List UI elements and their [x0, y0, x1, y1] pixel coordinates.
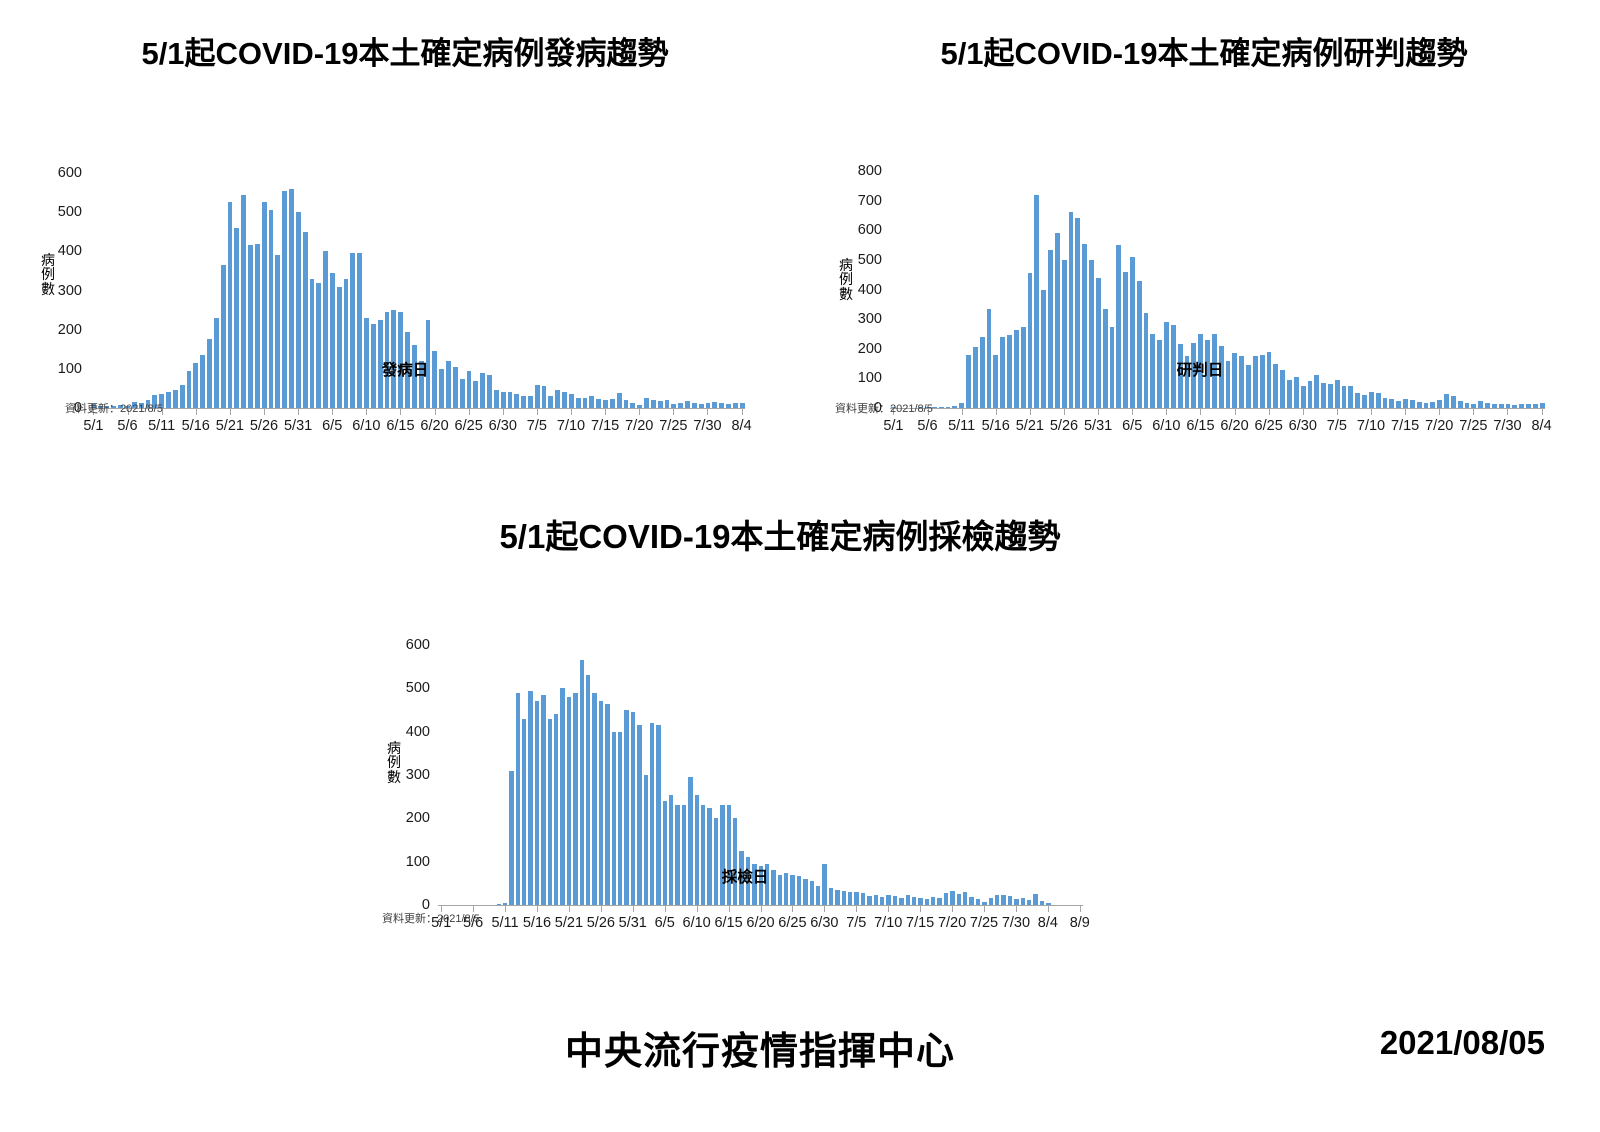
xtick-label: 5/16 [982, 418, 1010, 434]
bar[interactable] [1143, 313, 1150, 408]
bar[interactable] [268, 210, 275, 408]
xtick-label: 5/21 [555, 915, 583, 931]
xtick-label: 7/5 [846, 915, 866, 931]
xtick-label: 7/20 [1425, 418, 1453, 434]
xtick-label: 5/11 [148, 418, 175, 434]
bar[interactable] [479, 373, 486, 408]
bar[interactable] [1450, 396, 1457, 408]
xtick-label: 7/5 [1327, 418, 1347, 434]
bar[interactable] [1279, 370, 1286, 409]
xtick-label: 5/11 [491, 915, 518, 931]
xtick-label: 6/20 [746, 915, 774, 931]
bar[interactable] [534, 385, 541, 409]
bar[interactable] [431, 351, 438, 408]
bar[interactable] [1129, 257, 1136, 408]
ytick-label: 600 [830, 222, 882, 238]
ytick-label: 500 [40, 204, 82, 220]
plot-sample: 病例數01002003004005006005/15/65/115/165/21… [380, 623, 1093, 945]
update-note-sample: 資料更新：2021/8/5 [382, 910, 480, 926]
bar[interactable] [1293, 377, 1300, 408]
ytick-label: 600 [380, 637, 430, 653]
xtick-label: 5/11 [948, 418, 975, 434]
bar[interactable] [500, 392, 507, 408]
xtick-label: 5/16 [182, 418, 210, 434]
bar[interactable] [459, 379, 466, 408]
xtick-label: 5/31 [619, 915, 647, 931]
bar[interactable] [547, 396, 554, 408]
bar[interactable] [507, 392, 514, 408]
ytick-label: 100 [40, 361, 82, 377]
xtick-label: 6/30 [1289, 418, 1317, 434]
bar[interactable] [445, 361, 452, 408]
bar[interactable] [1307, 381, 1314, 408]
bar[interactable] [1006, 335, 1013, 408]
bar[interactable] [513, 394, 520, 408]
xtick-label: 6/15 [386, 418, 414, 434]
bar[interactable] [322, 251, 329, 408]
bar[interactable] [356, 253, 363, 408]
bar[interactable] [1354, 393, 1361, 408]
ytick-label: 200 [40, 322, 82, 338]
bar[interactable] [1402, 399, 1409, 408]
xtick-label: 5/16 [523, 915, 551, 931]
ytick-label: 700 [830, 193, 882, 209]
bar[interactable] [213, 318, 220, 408]
xtick-label: 7/20 [938, 915, 966, 931]
xtick-label: 6/20 [420, 418, 448, 434]
bar[interactable] [1020, 327, 1027, 408]
ytick-label: 300 [40, 283, 82, 299]
bar[interactable] [986, 309, 993, 408]
xtick-label: 6/15 [714, 915, 742, 931]
bar[interactable] [315, 283, 322, 408]
bar[interactable] [1382, 398, 1389, 408]
bar[interactable] [247, 245, 254, 408]
bar[interactable] [486, 375, 493, 408]
bar[interactable] [220, 265, 227, 408]
ytick-label: 500 [830, 252, 882, 268]
bar[interactable] [650, 400, 657, 408]
xtick-label: 5/21 [216, 418, 244, 434]
bar[interactable] [582, 398, 589, 408]
xtick-label: 6/20 [1220, 418, 1248, 434]
bar[interactable] [1361, 395, 1368, 408]
bar[interactable] [288, 189, 295, 408]
xtick-label: 5/21 [1016, 418, 1044, 434]
chart-title-sample: 5/1起COVID-19本土確定病例採檢趨勢 [340, 510, 1220, 558]
bar[interactable] [568, 394, 575, 408]
xtick-label: 7/15 [906, 915, 934, 931]
xtick-label: 7/15 [1391, 418, 1419, 434]
footer-date: 2021/08/05 [1380, 1024, 1545, 1062]
bar[interactable] [1013, 330, 1020, 409]
ytick-label: 500 [380, 680, 430, 696]
xtick-label: 8/9 [1070, 915, 1090, 931]
bar[interactable] [575, 398, 582, 408]
bar[interactable] [1095, 278, 1102, 408]
xtick-label: 8/4 [731, 418, 751, 434]
xtick-label: 6/25 [455, 418, 483, 434]
bar[interactable] [349, 253, 356, 408]
bar[interactable] [1272, 364, 1279, 408]
xtick-label: 6/10 [683, 915, 711, 931]
bar[interactable] [438, 369, 445, 408]
xtick-label: 7/5 [527, 418, 547, 434]
xtick-label: 5/6 [917, 418, 937, 434]
bar[interactable] [343, 279, 350, 408]
bar[interactable] [684, 401, 691, 408]
bar[interactable] [979, 337, 986, 408]
bar[interactable] [370, 324, 377, 408]
chart-title-onset: 5/1起COVID-19本土確定病例發病趨勢 [10, 28, 800, 73]
update-note-confirm: 資料更新：2021/8/5 [835, 400, 933, 416]
bar[interactable] [452, 367, 459, 408]
xtick-label: 6/5 [655, 915, 675, 931]
bar[interactable] [1327, 384, 1334, 408]
bar[interactable] [1136, 281, 1143, 408]
xtick-label: 5/1 [883, 418, 903, 434]
bar[interactable] [1027, 273, 1034, 408]
bar[interactable] [172, 390, 179, 408]
xaxis-title-confirm: 研判日 [1177, 358, 1224, 380]
bar[interactable] [561, 392, 568, 408]
xtick-label: 6/30 [489, 418, 517, 434]
bar[interactable] [186, 371, 193, 408]
xtick-label: 5/1 [83, 418, 103, 434]
bar[interactable] [1231, 353, 1238, 408]
xtick-label: 6/15 [1186, 418, 1214, 434]
ytick-label: 100 [380, 854, 430, 870]
bar[interactable] [1088, 260, 1095, 408]
bar[interactable] [616, 393, 623, 408]
bar[interactable] [261, 202, 268, 408]
ytick-label: 200 [830, 341, 882, 357]
bar[interactable] [999, 337, 1006, 408]
xtick-label: 7/10 [874, 915, 902, 931]
xaxis-title-onset: 發病日 [382, 358, 429, 380]
ytick-label: 400 [830, 282, 882, 298]
chart-title-confirm: 5/1起COVID-19本土確定病例研判趨勢 [808, 28, 1600, 73]
bar[interactable] [1388, 399, 1395, 408]
bar[interactable] [541, 386, 548, 408]
update-note-onset: 資料更新：2021/8/5 [65, 400, 163, 416]
bar[interactable] [1156, 340, 1163, 408]
ytick-label: 800 [830, 163, 882, 179]
xtick-label: 6/5 [322, 418, 342, 434]
bar[interactable] [254, 244, 261, 409]
bar[interactable] [206, 339, 213, 408]
bar[interactable] [1395, 401, 1402, 408]
xtick-label: 6/25 [778, 915, 806, 931]
bar[interactable] [527, 396, 534, 408]
ytick-label: 600 [40, 165, 82, 181]
xtick-label: 6/5 [1122, 418, 1142, 434]
bar[interactable] [1245, 365, 1252, 408]
xtick-label: 7/10 [1357, 418, 1385, 434]
xtick-label: 5/26 [250, 418, 278, 434]
ytick-label: 100 [830, 370, 882, 386]
bar[interactable] [1163, 322, 1170, 408]
bar[interactable] [1300, 386, 1307, 408]
bar[interactable] [1115, 245, 1122, 408]
x-tick-row [890, 409, 1545, 415]
bar[interactable] [1033, 195, 1040, 408]
bar[interactable] [1149, 334, 1156, 408]
bar[interactable] [1238, 356, 1245, 408]
xtick-label: 7/30 [693, 418, 721, 434]
bar[interactable] [1074, 218, 1081, 408]
xtick-label: 6/25 [1255, 418, 1283, 434]
bar[interactable] [302, 232, 309, 408]
chart-panel-confirm: 5/1起COVID-19本土確定病例研判趨勢 病例數01002003004005… [800, 28, 1600, 498]
bar[interactable] [1375, 393, 1382, 408]
ytick-label: 300 [830, 311, 882, 327]
xtick-label: 6/10 [1152, 418, 1180, 434]
bar[interactable] [1266, 352, 1273, 408]
xtick-label: 7/25 [970, 915, 998, 931]
bar[interactable] [1252, 356, 1259, 408]
bar[interactable] [1334, 380, 1341, 408]
bar[interactable] [466, 371, 473, 408]
bar[interactable] [329, 273, 336, 408]
xaxis-title-sample: 採檢日 [722, 865, 769, 887]
bar[interactable] [664, 400, 671, 408]
xtick-label: 6/30 [810, 915, 838, 931]
chart-panel-onset: 5/1起COVID-19本土確定病例發病趨勢 病例數01002003004005… [0, 28, 800, 498]
xtick-label: 7/30 [1002, 915, 1030, 931]
bar[interactable] [1320, 383, 1327, 408]
bar[interactable] [227, 202, 234, 408]
bar[interactable] [179, 385, 186, 409]
bar[interactable] [623, 400, 630, 408]
bar[interactable] [1054, 233, 1061, 408]
bar[interactable] [1068, 212, 1075, 408]
bar[interactable] [972, 347, 979, 408]
xtick-label: 5/26 [1050, 418, 1078, 434]
bar[interactable] [1368, 392, 1375, 408]
bar[interactable] [363, 318, 370, 408]
bar[interactable] [1225, 361, 1232, 408]
x-tick-row [90, 409, 745, 415]
bar[interactable] [1347, 386, 1354, 408]
bar[interactable] [233, 228, 240, 408]
xtick-label: 5/31 [1084, 418, 1112, 434]
bar[interactable] [657, 401, 664, 408]
bar[interactable] [602, 400, 609, 408]
x-tick-row [438, 906, 1083, 912]
bar[interactable] [1409, 400, 1416, 408]
bar[interactable] [965, 355, 972, 408]
bar[interactable] [1047, 250, 1054, 408]
bar[interactable] [1109, 327, 1116, 408]
bar[interactable] [588, 396, 595, 408]
ytick-label: 300 [380, 767, 430, 783]
ytick-label: 400 [40, 243, 82, 259]
bar[interactable] [493, 390, 500, 408]
xtick-label: 7/25 [659, 418, 687, 434]
bar[interactable] [336, 287, 343, 408]
xtick-label: 5/6 [117, 418, 137, 434]
bar[interactable] [472, 381, 479, 408]
bar[interactable] [1081, 244, 1088, 408]
chart-panel-sample: 5/1起COVID-19本土確定病例採檢趨勢 病例數01002003004005… [340, 510, 1220, 970]
bar[interactable] [1313, 375, 1320, 408]
xtick-label: 8/4 [1531, 418, 1551, 434]
xtick-label: 7/30 [1493, 418, 1521, 434]
plot-confirm: 病例數01002003004005006007008005/15/65/115/… [830, 153, 1555, 448]
bar[interactable] [1443, 394, 1450, 408]
bar[interactable] [1122, 272, 1129, 408]
bar[interactable] [1436, 400, 1443, 408]
bar[interactable] [643, 398, 650, 408]
bar[interactable] [1102, 309, 1109, 408]
bar[interactable] [1061, 260, 1068, 408]
bar[interactable] [595, 399, 602, 408]
footer-organization: 中央流行疫情指揮中心 [565, 1020, 955, 1075]
bar[interactable] [274, 255, 281, 408]
bar[interactable] [1040, 290, 1047, 409]
bar[interactable] [295, 212, 302, 408]
ytick-label: 400 [380, 724, 430, 740]
bar[interactable] [192, 363, 199, 408]
bar[interactable] [240, 195, 247, 408]
bar[interactable] [309, 279, 316, 408]
xtick-label: 5/26 [587, 915, 615, 931]
bar[interactable] [554, 390, 561, 408]
xtick-label: 7/20 [625, 418, 653, 434]
bar[interactable] [609, 399, 616, 408]
xtick-label: 5/31 [284, 418, 312, 434]
ytick-label: 200 [380, 810, 430, 826]
xtick-label: 6/10 [352, 418, 380, 434]
bar[interactable] [520, 396, 527, 408]
bar[interactable] [1341, 386, 1348, 408]
bar[interactable] [165, 392, 172, 408]
bar[interactable] [992, 355, 999, 408]
xtick-label: 7/10 [557, 418, 585, 434]
bar[interactable] [199, 355, 206, 408]
xtick-label: 7/25 [1459, 418, 1487, 434]
xtick-label: 7/15 [591, 418, 619, 434]
xtick-label: 8/4 [1038, 915, 1058, 931]
bar[interactable] [281, 191, 288, 408]
bar[interactable] [1286, 380, 1293, 408]
bar[interactable] [1259, 355, 1266, 408]
